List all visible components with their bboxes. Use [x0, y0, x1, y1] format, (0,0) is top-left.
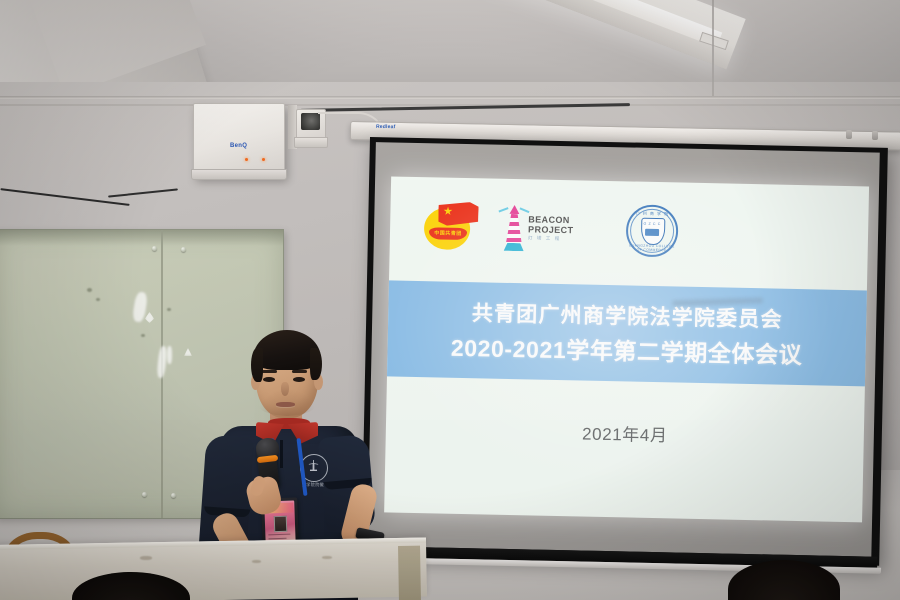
blackboard-mark — [141, 334, 145, 337]
wall-trim-line — [0, 96, 900, 99]
cyl-flag-shape — [438, 201, 479, 227]
polo-emblem-text: 法学院院徽 — [294, 482, 332, 488]
slide-content: 中国共青团 BEACON — [384, 176, 869, 522]
beacon-project-logo-icon: BEACON PROJECT 灯 塔 工 程 — [504, 204, 601, 254]
lighthouse-ray-right — [520, 207, 530, 213]
blackboard-screw — [152, 246, 157, 251]
projector-led-status — [262, 158, 265, 161]
lectern-scuff — [252, 560, 261, 563]
projector-lower-lip — [191, 169, 287, 180]
presenter-eye-left — [263, 377, 275, 382]
presenter-hair-side-right — [310, 348, 322, 380]
lighthouse-body — [506, 214, 523, 244]
presenter-hair-side-left — [251, 348, 263, 382]
lectern-scuff — [322, 556, 332, 559]
blackboard-mark — [87, 288, 92, 292]
lighthouse-roof — [509, 205, 519, 214]
projection-screen: 中国共青团 BEACON — [361, 137, 888, 566]
polo-placket — [280, 440, 283, 468]
presenter-nose — [281, 382, 289, 396]
blackboard-glare — [167, 346, 172, 364]
blackboard-glare — [156, 346, 167, 379]
blackboard-top-shadow — [0, 230, 283, 246]
presenter-eye-right — [293, 377, 305, 382]
cyl-band-text: 中国共青团 — [431, 229, 465, 237]
wall-seam — [712, 0, 714, 96]
blackboard-glare — [184, 348, 192, 356]
blackboard-screw — [142, 492, 147, 497]
slide-title-band: 共青团广州商学院法学院委员会 2020-2021学年第二学期全体会议 — [387, 280, 867, 386]
beacon-project-text-block: BEACON PROJECT 灯 塔 工 程 — [528, 216, 574, 242]
blackboard-screw — [171, 493, 176, 498]
crest-book-icon — [645, 229, 659, 236]
lectern-scuff — [140, 556, 152, 560]
projector-brand-label: BenQ — [230, 143, 247, 149]
blackboard-glare — [145, 312, 154, 323]
slide-date: 2021年4月 — [386, 415, 864, 450]
roller-bracket — [846, 130, 852, 139]
slide-logo-row: 中国共青团 BEACON — [390, 194, 869, 266]
beacon-line-2: PROJECT — [528, 225, 573, 235]
slide-title-line-2: 2020-2021学年第二学期全体会议 — [451, 329, 803, 370]
crest-top-text: 广 州 商 学 院 — [626, 210, 678, 217]
blackboard-screw — [181, 247, 186, 252]
wall-mounted-projector — [193, 103, 285, 177]
lighthouse-icon — [504, 205, 525, 251]
lectern-right-side — [398, 546, 421, 600]
roller-bracket — [872, 131, 878, 140]
presenter-eyebrow-right — [292, 370, 307, 373]
roller-brand-label: Redleaf — [376, 124, 396, 130]
blackboard-mark — [96, 298, 100, 301]
blackboard-mark — [167, 308, 171, 311]
communist-youth-league-emblem-icon: 中国共青团 — [424, 201, 479, 252]
projected-slide: 中国共青团 BEACON — [384, 176, 869, 522]
university-crest-icon: 广 州 商 学 院 G Z C C GUANGZHOU COLLEGE OF C… — [626, 204, 679, 257]
classroom-presentation-photo: BenQ Redleaf — [0, 0, 900, 600]
beacon-subtitle: 灯 塔 工 程 — [528, 236, 573, 242]
projection-screen-surface: 中国共青团 BEACON — [367, 142, 879, 556]
id-badge-photo — [274, 516, 288, 532]
lighthouse-ray-left — [498, 207, 508, 212]
presenter-eyebrow-left — [262, 370, 277, 373]
projector-led-power — [245, 158, 248, 161]
crest-bottom-text: GUANGZHOU COLLEGE OF COMMERCE — [626, 243, 678, 252]
presenter-mouth — [276, 402, 295, 407]
